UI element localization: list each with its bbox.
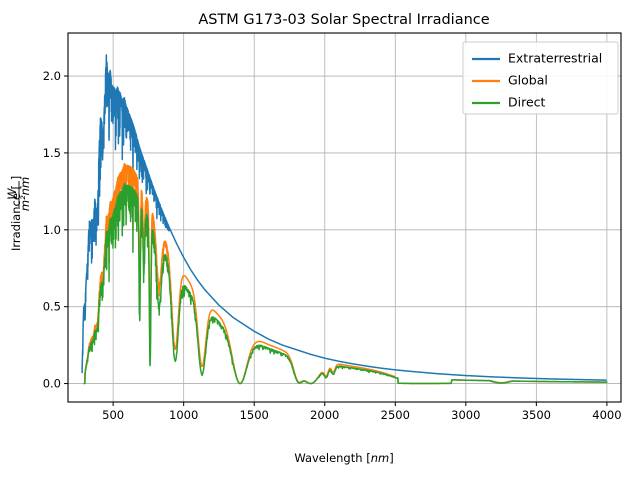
x-tick-label: 1000 <box>169 408 198 422</box>
y-tick-label: 0.5 <box>43 300 61 314</box>
chart-legend[interactable]: ExtraterrestrialGlobalDirect <box>463 42 618 114</box>
figure-canvas: ASTM G173-03 Solar Spectral Irradiance 5… <box>0 0 640 480</box>
fraction-denominator: m²nm <box>18 177 32 211</box>
x-axis-label-unit: nm <box>371 451 390 465</box>
legend-label-global: Global <box>508 73 548 88</box>
y-tick-label: 2.0 <box>43 69 61 83</box>
fraction-numerator: W <box>5 188 19 200</box>
solar-spectrum-chart: ASTM G173-03 Solar Spectral Irradiance 5… <box>0 0 640 480</box>
x-tick-label: 2000 <box>310 408 339 422</box>
y-axis-label-bracket-close: ] <box>9 176 23 181</box>
x-axis-label-suffix: ] <box>389 451 394 465</box>
legend-label-direct: Direct <box>508 95 546 110</box>
x-tick-label: 4000 <box>592 408 621 422</box>
x-tick-label: 2500 <box>381 408 410 422</box>
x-tick-label: 3000 <box>451 408 480 422</box>
chart-title: ASTM G173-03 Solar Spectral Irradiance <box>198 12 489 28</box>
y-tick-label: 1.0 <box>43 223 61 237</box>
y-tick-label: 1.5 <box>43 146 61 160</box>
legend-label-extraterrestrial: Extraterrestrial <box>508 51 602 66</box>
y-tick-label: 0.0 <box>43 377 61 391</box>
x-tick-label: 3500 <box>522 408 551 422</box>
x-axis-label-prefix: Wavelength [ <box>294 451 370 465</box>
x-tick-label: 1500 <box>240 408 269 422</box>
x-axis-label: Wavelength [nm] <box>294 451 393 465</box>
x-tick-label: 500 <box>102 408 124 422</box>
